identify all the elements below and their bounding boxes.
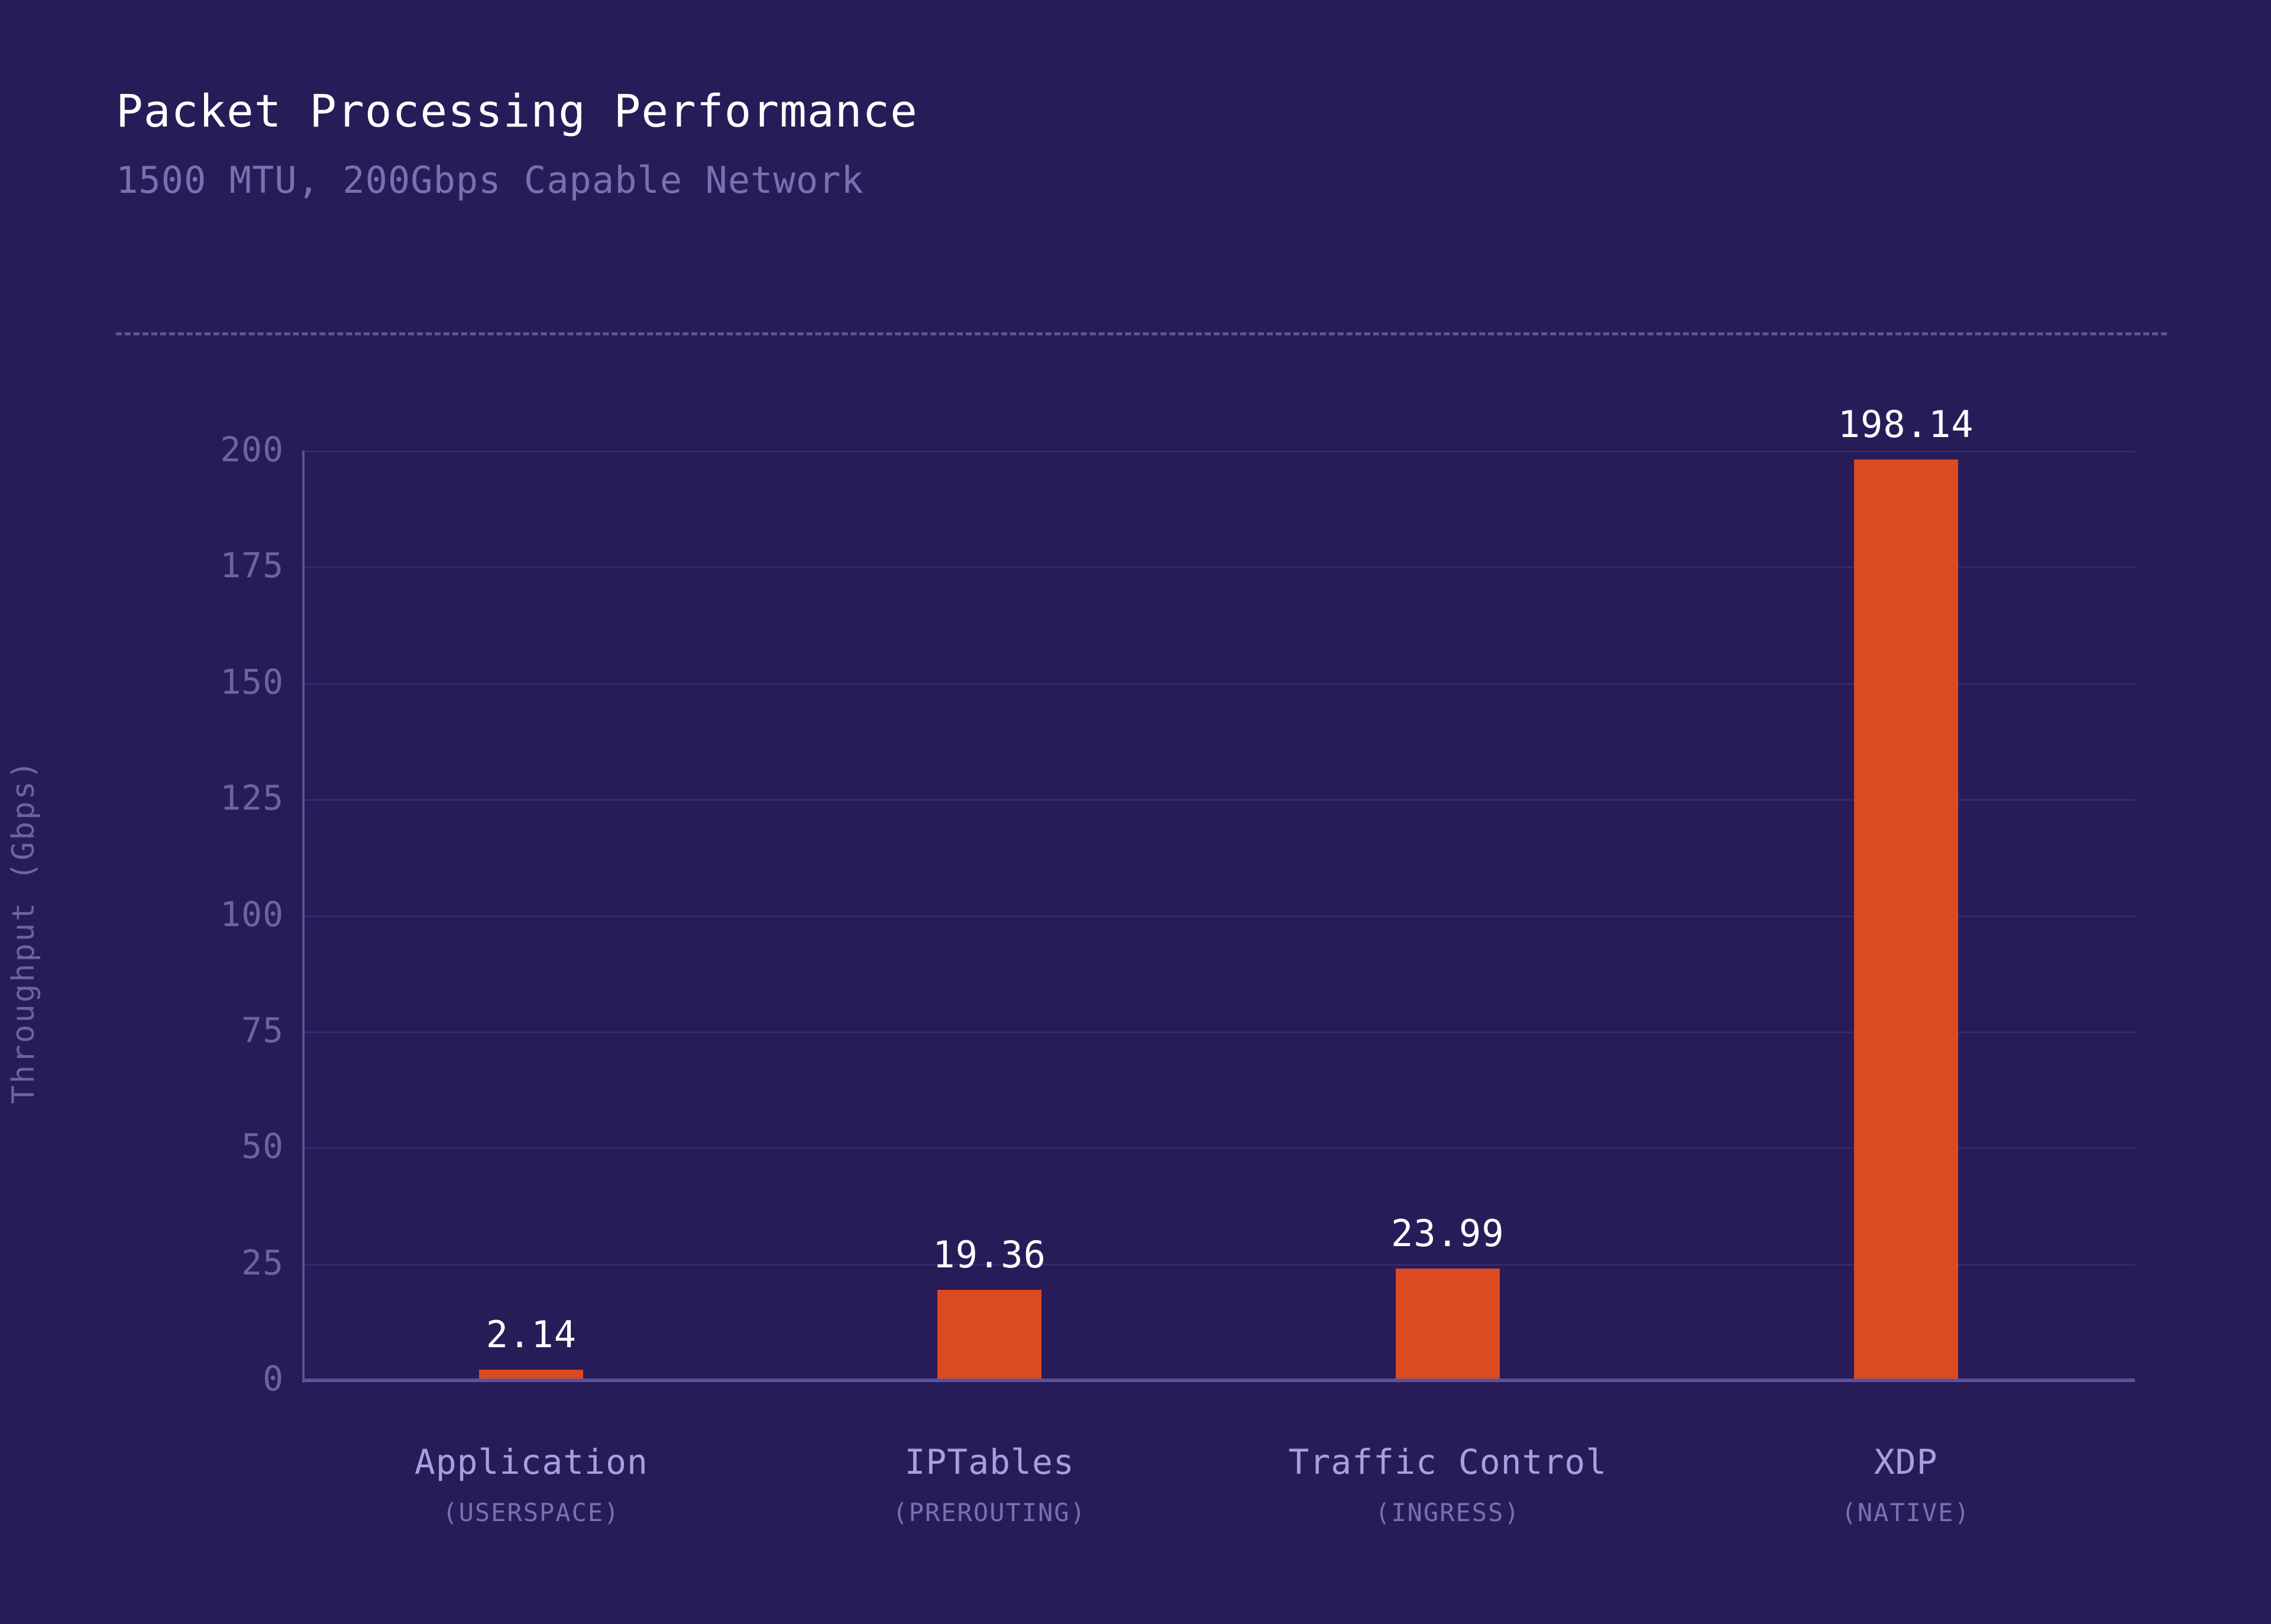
y-axis-tick-label: 150 — [118, 662, 284, 702]
y-axis-spine — [302, 451, 305, 1383]
y-axis-tick-label: 125 — [118, 778, 284, 818]
y-axis-tick-label: 0 — [118, 1358, 284, 1399]
bar-value-label: 2.14 — [354, 1313, 709, 1356]
y-axis-tick-label: 75 — [118, 1010, 284, 1050]
y-axis-tick-label: 50 — [118, 1126, 284, 1166]
x-axis-tick: XDP(NATIVE) — [1610, 1445, 2202, 1525]
y-axis-title: Throughput (Gbps) — [6, 281, 41, 1582]
bar[interactable] — [937, 1290, 1041, 1380]
bar-value-label: 19.36 — [812, 1233, 1167, 1276]
plot-area — [302, 451, 2135, 1380]
bar[interactable] — [1396, 1269, 1500, 1380]
bar-value-label: 198.14 — [1729, 403, 2084, 446]
y-axis-tick-label: 25 — [118, 1243, 284, 1283]
y-axis-tick-label: 200 — [118, 429, 284, 470]
bar[interactable] — [1854, 460, 1958, 1380]
x-axis-category-sublabel: (NATIVE) — [1610, 1500, 2202, 1525]
y-axis-tick-label: 175 — [118, 545, 284, 585]
y-axis-tick-label: 100 — [118, 894, 284, 934]
gridline — [302, 451, 2135, 452]
bar-value-label: 23.99 — [1270, 1212, 1625, 1255]
bar-chart: 0255075100125150175200 2.1419.3623.99198… — [0, 0, 2271, 1624]
x-axis-category-label: XDP — [1610, 1445, 2202, 1479]
x-axis-spine — [302, 1379, 2135, 1382]
